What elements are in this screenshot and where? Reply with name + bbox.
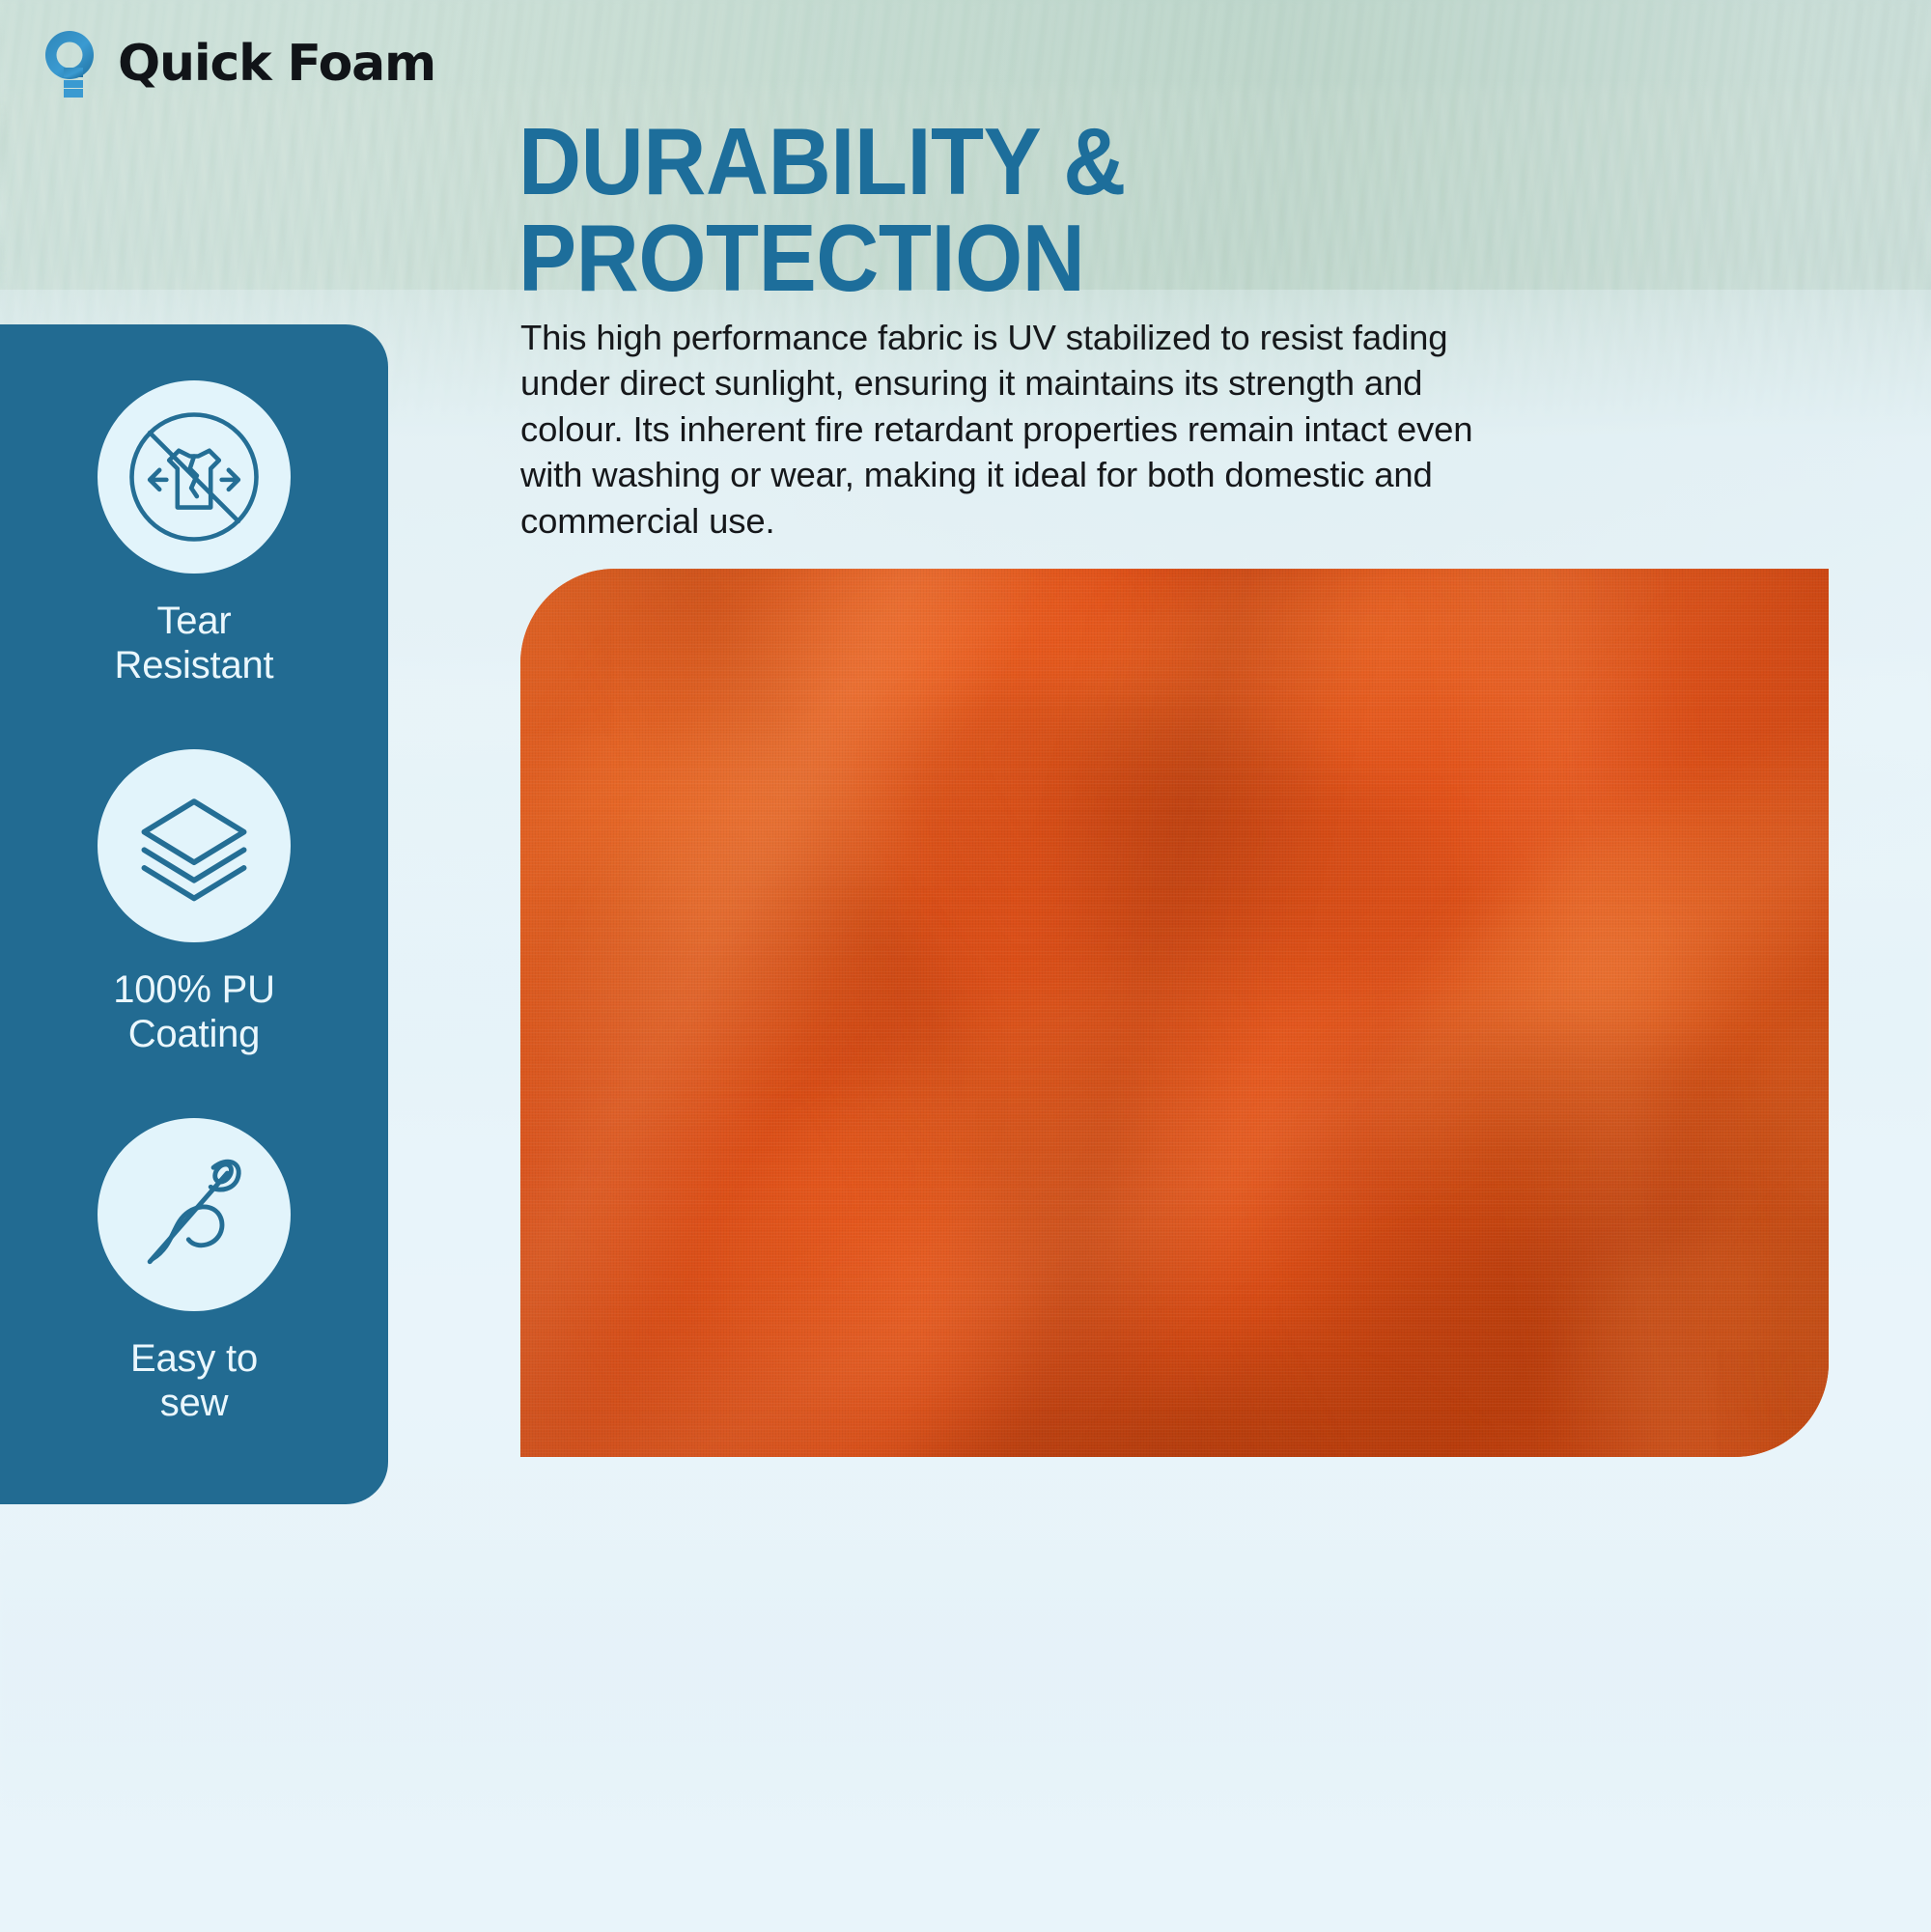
fabric-vignette <box>520 569 1829 1457</box>
feature-label-easy-to-sew: Easy to sew <box>130 1336 258 1426</box>
quick-foam-q-mark-icon <box>41 29 100 98</box>
feature-label-line-1: Tear <box>115 599 274 643</box>
brand-logo[interactable]: Quick Foam <box>41 29 435 98</box>
feature-label-line-2: sew <box>130 1381 258 1425</box>
feature-label-tear-resistant: Tear Resistant <box>115 599 274 688</box>
feature-pu-coating[interactable]: 100% PU Coating <box>0 749 388 1057</box>
page-title: DURABILITY & PROTECTION <box>518 114 1434 307</box>
layers-coating-icon <box>98 749 291 942</box>
product-image <box>520 569 1829 1457</box>
fabric-texture <box>520 569 1829 1457</box>
tear-resistant-icon <box>98 380 291 574</box>
feature-label-pu-coating: 100% PU Coating <box>113 967 275 1057</box>
feature-label-line-2: Resistant <box>115 643 274 687</box>
brand-name: Quick Foam <box>118 39 435 89</box>
page-title-line-1: DURABILITY & <box>518 114 1434 210</box>
sewing-needle-thread-icon <box>98 1118 291 1311</box>
description-paragraph: This high performance fabric is UV stabi… <box>520 315 1496 544</box>
feature-tear-resistant[interactable]: Tear Resistant <box>0 380 388 688</box>
feature-label-line-1: 100% PU <box>113 967 275 1012</box>
features-sidebar: Tear Resistant 100% PU Coating <box>0 324 388 1504</box>
feature-label-line-1: Easy to <box>130 1336 258 1381</box>
feature-easy-to-sew[interactable]: Easy to sew <box>0 1118 388 1426</box>
page-title-line-2: PROTECTION <box>518 210 1434 307</box>
feature-label-line-2: Coating <box>113 1012 275 1056</box>
